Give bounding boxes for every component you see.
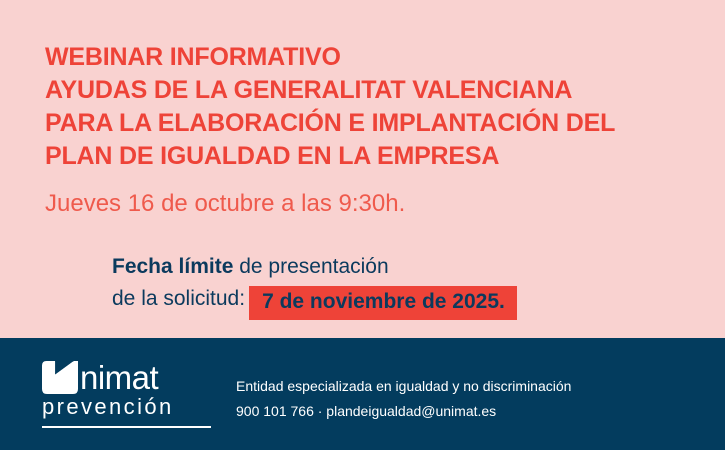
deadline-line2-prefix: de la solicitud: <box>112 287 245 310</box>
deadline-label-bold: Fecha límite <box>112 255 233 278</box>
event-datetime: Jueves 16 de octubre a las 9:30h. <box>45 189 405 219</box>
page-title: WEBINAR INFORMATIVO AYUDAS DE LA GENERAL… <box>45 41 615 173</box>
logo-word-nimat: nimat <box>80 361 158 394</box>
deadline-label-rest: de presentación <box>233 255 388 278</box>
deadline-block: Fecha límite de presentación de la solic… <box>112 251 517 315</box>
footer-contact-line: 900 101 766 · plandeigualdad@unimat.es <box>236 399 571 424</box>
unimat-logo: nimat prevención <box>42 358 214 428</box>
deadline-line-1: Fecha límite de presentación <box>112 251 517 283</box>
logo-underline-rule <box>42 426 211 428</box>
headline-line-1: WEBINAR INFORMATIVO <box>45 41 615 74</box>
deadline-line-2: de la solicitud:7 de noviembre de 2025. <box>112 283 517 315</box>
unimat-u-block-icon <box>42 361 78 394</box>
main-content-area: WEBINAR INFORMATIVO AYUDAS DE LA GENERAL… <box>0 0 725 338</box>
logo-wordmark-row: nimat <box>42 358 214 394</box>
headline-line-3: PARA LA ELABORACIÓN E IMPLANTACIÓN DEL <box>45 107 615 140</box>
headline-line-2: AYUDAS DE LA GENERALITAT VALENCIANA <box>45 74 615 107</box>
logo-word-prevencion: prevención <box>42 395 214 419</box>
webinar-poster: WEBINAR INFORMATIVO AYUDAS DE LA GENERAL… <box>0 0 725 450</box>
footer-bar: nimat prevención Entidad especializada e… <box>0 338 725 450</box>
headline-line-4: PLAN DE IGUALDAD EN LA EMPRESA <box>45 140 615 173</box>
deadline-date-badge: 7 de noviembre de 2025. <box>249 286 517 320</box>
footer-tagline: Entidad especializada en igualdad y no d… <box>236 374 571 399</box>
footer-contact-info: Entidad especializada en igualdad y no d… <box>236 374 571 424</box>
